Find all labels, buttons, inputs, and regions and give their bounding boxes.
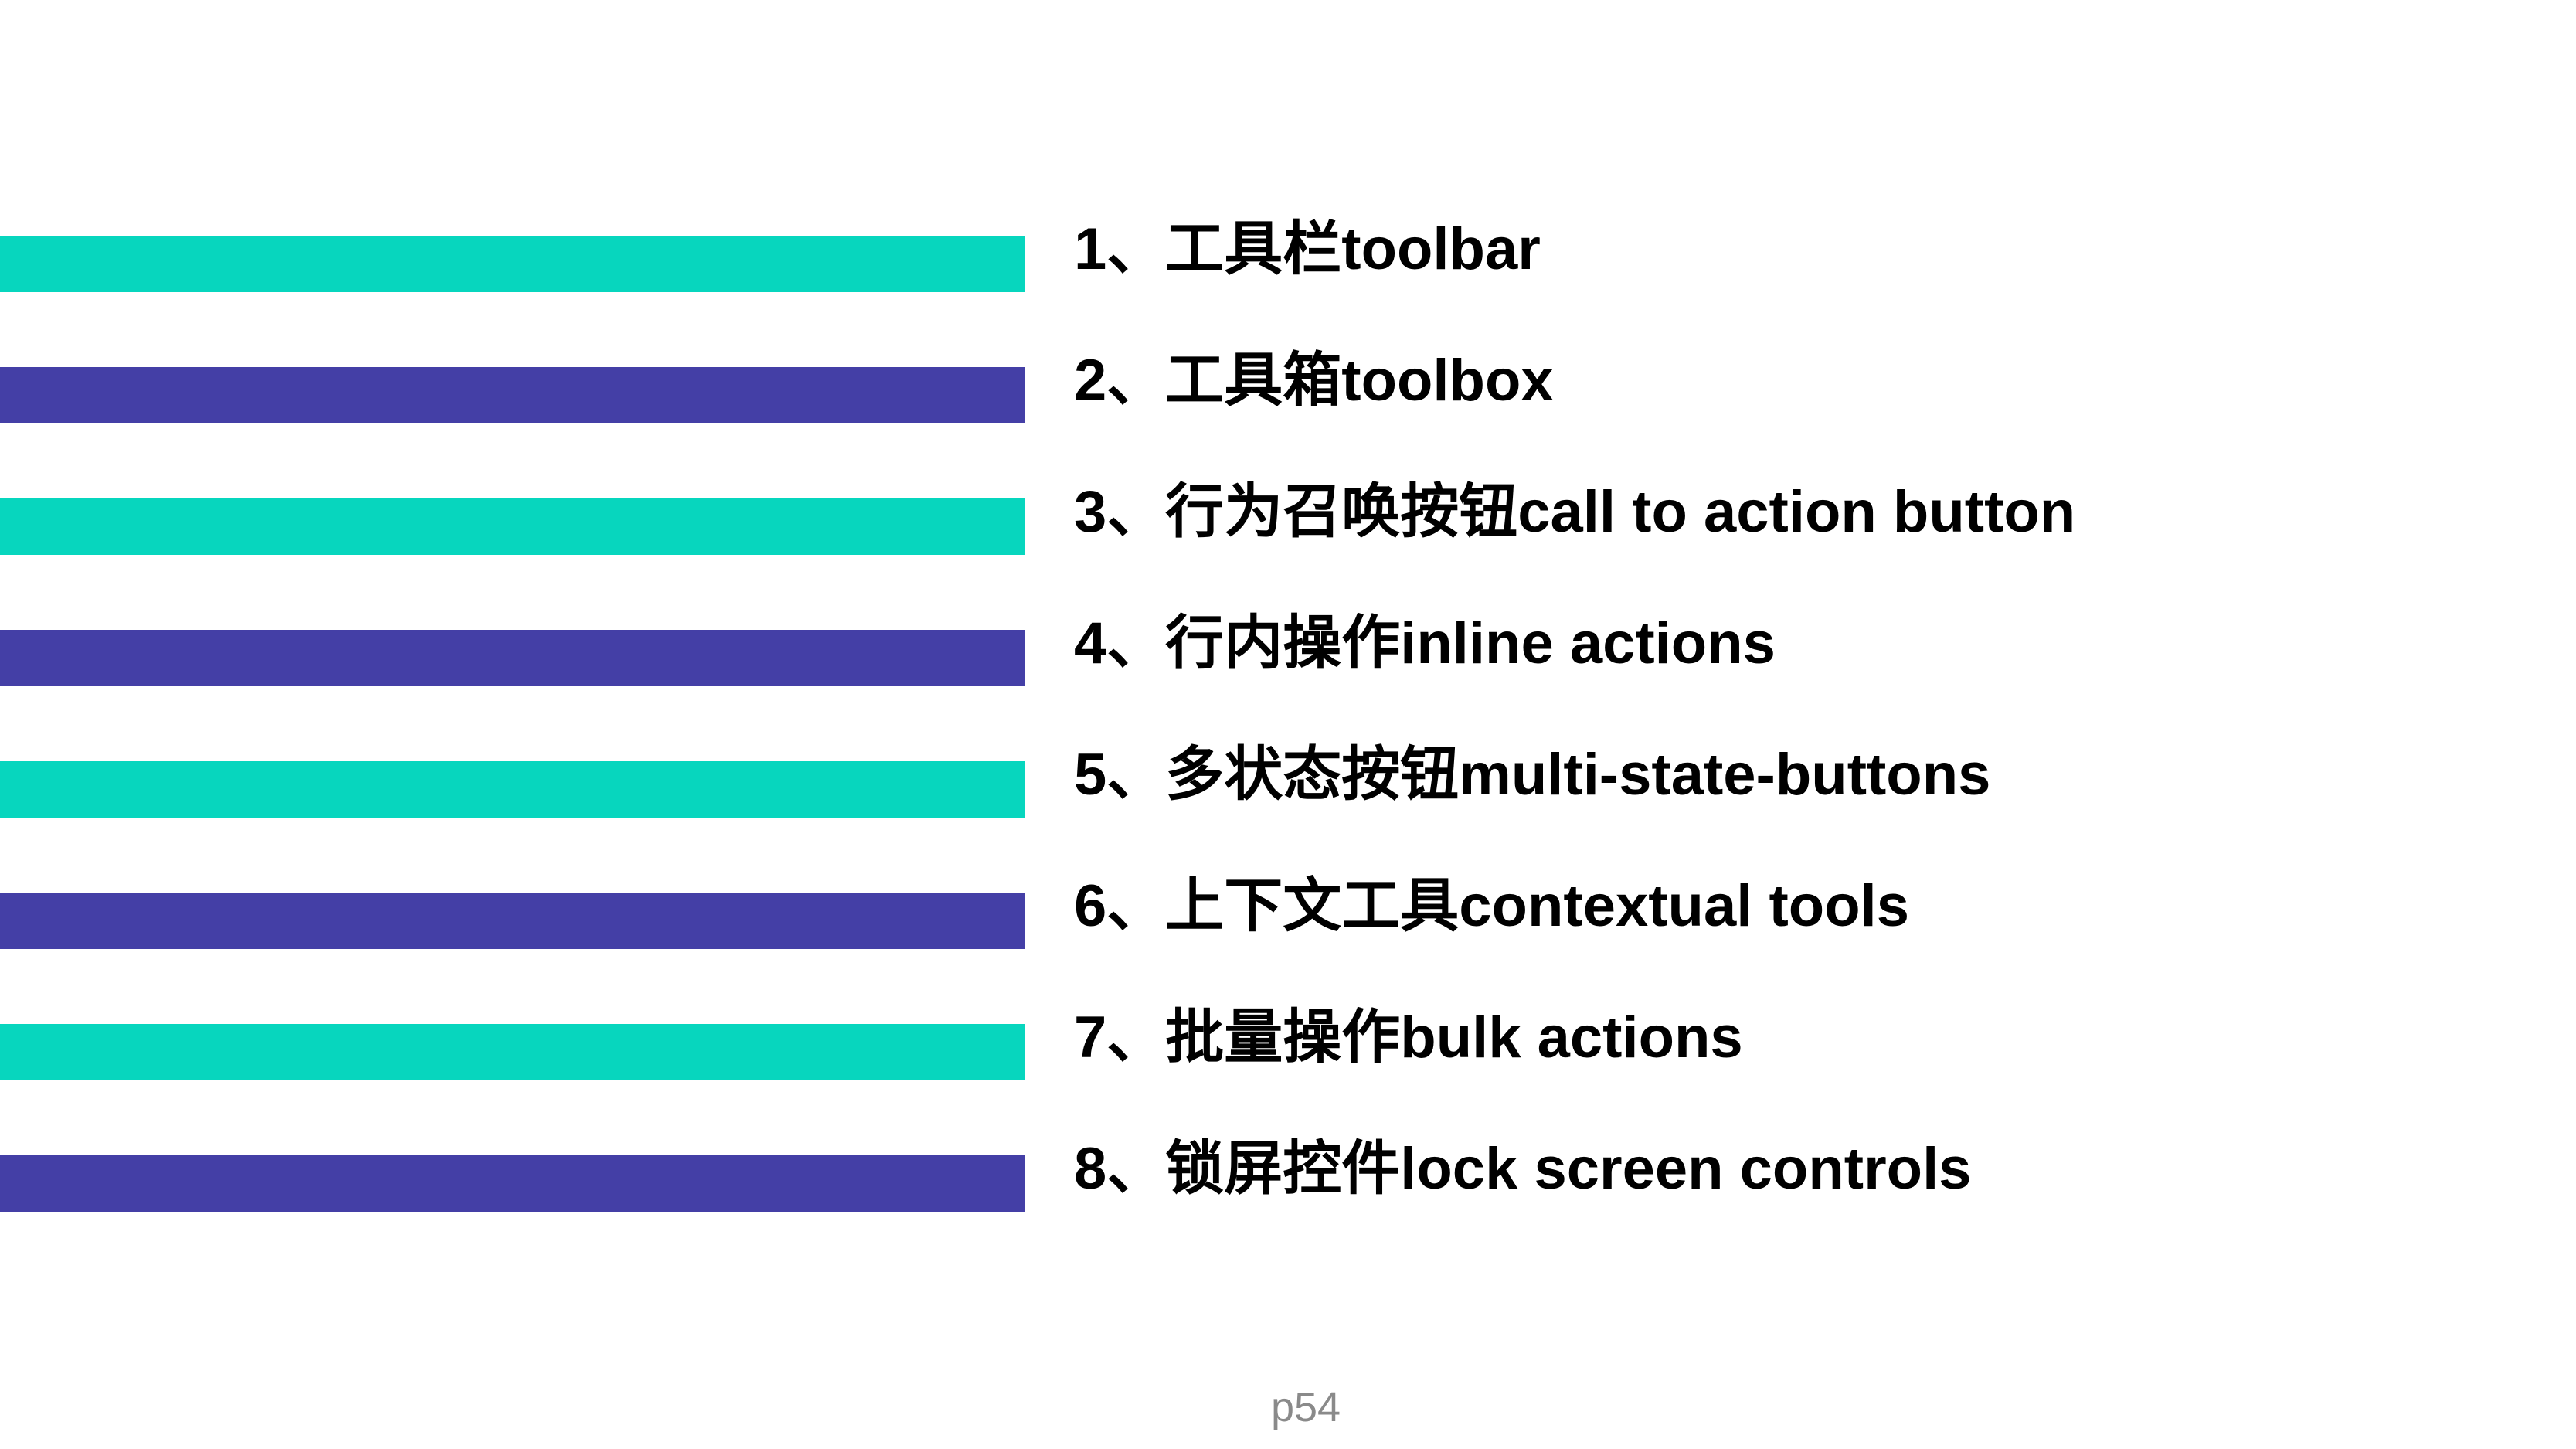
- list-item-label-7: 7、批量操作bulk actions: [1074, 1009, 2576, 1067]
- color-bar-1: [0, 236, 1025, 292]
- list-item-label-1: 1、工具栏toolbar: [1074, 220, 2576, 279]
- color-bar-5: [0, 761, 1025, 818]
- list-item-label-3: 3、行为召唤按钮call to action button: [1074, 483, 2576, 542]
- list-item-label-5: 5、多状态按钮multi-state-buttons: [1074, 746, 2576, 804]
- list-item-label-4: 4、行内操作inline actions: [1074, 614, 2576, 673]
- color-bar-8: [0, 1155, 1025, 1212]
- color-bar-7: [0, 1024, 1025, 1080]
- list-item-label-2: 2、工具箱toolbox: [1074, 352, 2576, 410]
- color-bar-6: [0, 893, 1025, 949]
- page-number: p54: [0, 1383, 2576, 1431]
- list-item-label-6: 6、上下文工具contextual tools: [1074, 877, 2576, 936]
- terminology-list: 1、工具栏toolbar 2、工具箱toolbox 3、行为召唤按钮call t…: [0, 236, 2576, 1287]
- slide-canvas: 1、工具栏toolbar 2、工具箱toolbox 3、行为召唤按钮call t…: [0, 0, 2576, 1449]
- color-bar-4: [0, 630, 1025, 686]
- color-bar-2: [0, 367, 1025, 423]
- list-item: 8、锁屏控件lock screen controls: [0, 1155, 2576, 1287]
- list-item-label-8: 8、锁屏控件lock screen controls: [1074, 1140, 2576, 1199]
- color-bar-3: [0, 498, 1025, 555]
